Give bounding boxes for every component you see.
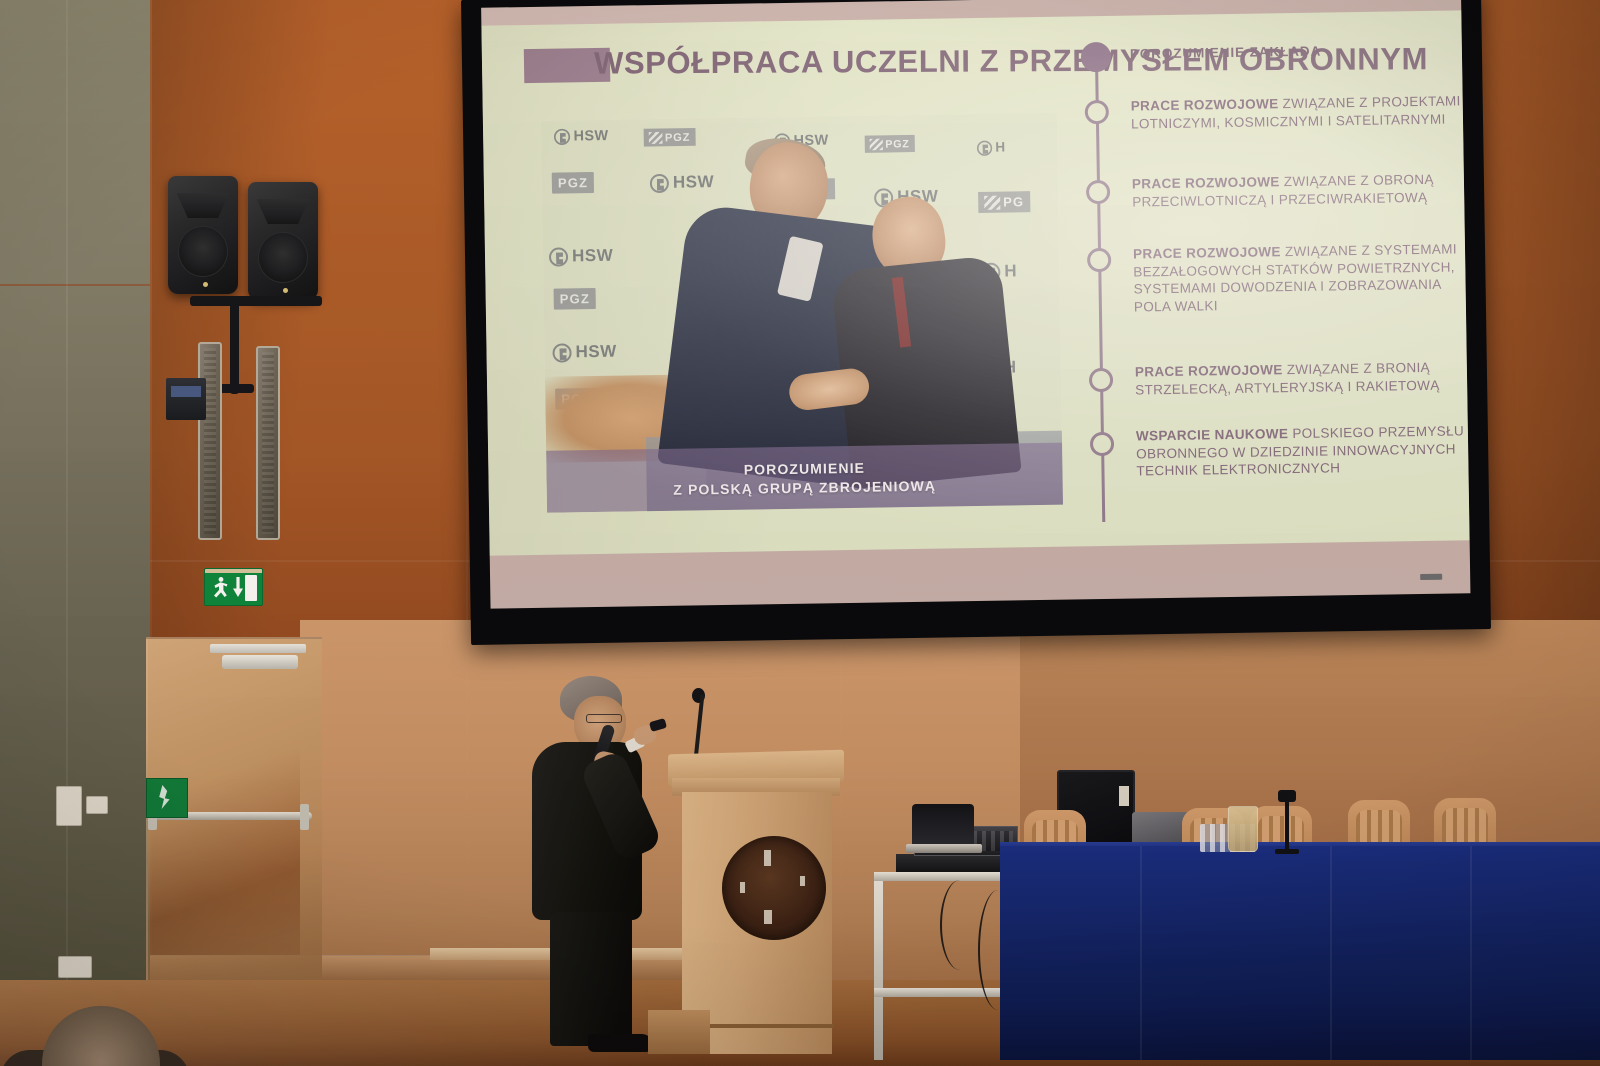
timeline-item-1: PRACE ROZWOJOWE ZWIĄZANE Z PROJEKTAMI LO… (1131, 92, 1462, 132)
emergency-exit-icon (204, 568, 263, 606)
presenter (524, 676, 664, 1054)
running-man-icon (210, 576, 228, 600)
door-closer-arm (222, 655, 298, 669)
cable-run-a (940, 880, 980, 970)
left-wall-panel (0, 0, 152, 1010)
column-speaker-grille (204, 348, 216, 534)
column-speaker-left (198, 342, 222, 540)
timeline-dot-4 (1089, 368, 1113, 392)
university-emblem (722, 836, 826, 940)
speaker-horn (176, 193, 229, 219)
glasses-icon (586, 714, 622, 723)
timeline-item-5-lead: WSPARCIE NAUKOWE (1136, 426, 1289, 443)
timeline-item-0: POROZUMIENIE ZAKŁADA (1130, 40, 1460, 63)
stage-step (648, 1010, 710, 1054)
cart-shelf-top (874, 872, 1014, 881)
photo-caption-line1: POROZUMIENIE (744, 459, 866, 477)
logo-hsw: HSW (552, 342, 616, 363)
photo-caption-line2: Z POLSKĄ GRUPĄ ZBROJENIOWĄ (673, 477, 936, 497)
wall-mounted-amplifier[interactable] (166, 378, 206, 420)
timeline-dot-2 (1086, 180, 1110, 204)
logo-pgz: PGZ (552, 172, 595, 194)
push-bar-end-right (300, 804, 309, 830)
wall-socket-c (58, 956, 92, 978)
presenter-legs (550, 912, 632, 1046)
door-closer-rail (210, 644, 306, 653)
timeline-item-0-lead: POROZUMIENIE ZAKŁADA (1130, 44, 1321, 62)
photo-caption: POROZUMIENIE Z POLSKĄ GRUPĄ ZBROJENIOWĄ (546, 443, 1063, 513)
projection-screen: WSPÓŁPRACA UCZELNI Z PRZEMYSŁEM OBRONNYM… (461, 0, 1491, 645)
timeline-item-3: PRACE ROZWOJOWE ZWIĄZANE Z SYSTEMAMI BEZ… (1133, 240, 1464, 315)
logo-hsw: H (977, 140, 1006, 156)
logo-hsw: HSW (554, 127, 609, 145)
screen-surface: WSPÓŁPRACA UCZELNI Z PRZEMYSŁEM OBRONNYM… (481, 0, 1470, 609)
photo-person-right (838, 195, 1022, 478)
exit-sign-plate (204, 568, 263, 573)
pa-speaker-right (248, 182, 318, 300)
logo-pgz: PGZ (554, 288, 597, 310)
pa-speaker-left (168, 176, 238, 294)
speaker-woofer (178, 226, 228, 278)
lectern-trim (704, 1024, 834, 1028)
arrow-down-icon (232, 576, 244, 600)
laptop-lid[interactable] (912, 804, 974, 846)
slide-timeline: POROZUMIENIE ZAKŁADA PRACE ROZWOJOWE ZWI… (1074, 28, 1470, 546)
timeline-item-2: PRACE ROZWOJOWE ZWIĄZANE Z OBRONĄ PRZECI… (1132, 170, 1463, 210)
timeline-item-3-lead: PRACE ROZWOJOWE (1133, 244, 1281, 261)
column-speaker-right (256, 346, 280, 540)
speaker-power-led (283, 288, 288, 293)
slide-photo: HSW PGZ HSW PGZ H PGZ (541, 113, 1063, 513)
table-microphone[interactable] (1285, 800, 1289, 850)
presentation-slide: WSPÓŁPRACA UCZELNI Z PRZEMYSŁEM OBRONNYM… (481, 10, 1469, 555)
laptop-base[interactable] (906, 844, 982, 853)
lectern (668, 752, 844, 1052)
speaker-woofer (258, 232, 308, 284)
wall-socket-a (56, 786, 82, 826)
presenter-shoe (588, 1034, 652, 1052)
conference-hall-photo: WSPÓŁPRACA UCZELNI Z PRZEMYSŁEM OBRONNYM… (0, 0, 1600, 1066)
speaker-power-led (203, 282, 208, 287)
timeline-item-2-lead: PRACE ROZWOJOWE (1132, 174, 1280, 191)
timeline-item-4-lead: PRACE ROZWOJOWE (1135, 362, 1283, 379)
speaker-horn (256, 199, 309, 225)
cart-leg-left (874, 872, 883, 1060)
timeline-item-4: PRACE ROZWOJOWE ZWIĄZANE Z BRONIĄ STRZEL… (1135, 358, 1466, 398)
exit-door-glyph (245, 575, 257, 601)
wall-socket-b (86, 796, 108, 814)
column-speaker-grille (262, 352, 274, 534)
speaker-mount-bar (190, 296, 322, 306)
timeline-item-1-lead: PRACE ROZWOJOWE (1131, 96, 1279, 113)
speaker-mount-pole (230, 300, 239, 394)
screen-brand-mark (1420, 574, 1442, 580)
water-pitcher (1228, 806, 1258, 852)
timeline-dot-5 (1090, 432, 1114, 456)
logo-hsw: HSW (549, 246, 613, 267)
timeline-dot-3 (1087, 248, 1111, 272)
timeline-dot-1 (1085, 100, 1109, 124)
fire-equipment-sign (146, 778, 188, 818)
head-table (1000, 846, 1600, 1060)
monitor-label (1119, 786, 1129, 806)
timeline-dot-0 (1081, 42, 1111, 72)
timeline-item-5: WSPARCIE NAUKOWE POLSKIEGO PRZEMYSŁU OBR… (1136, 422, 1467, 480)
